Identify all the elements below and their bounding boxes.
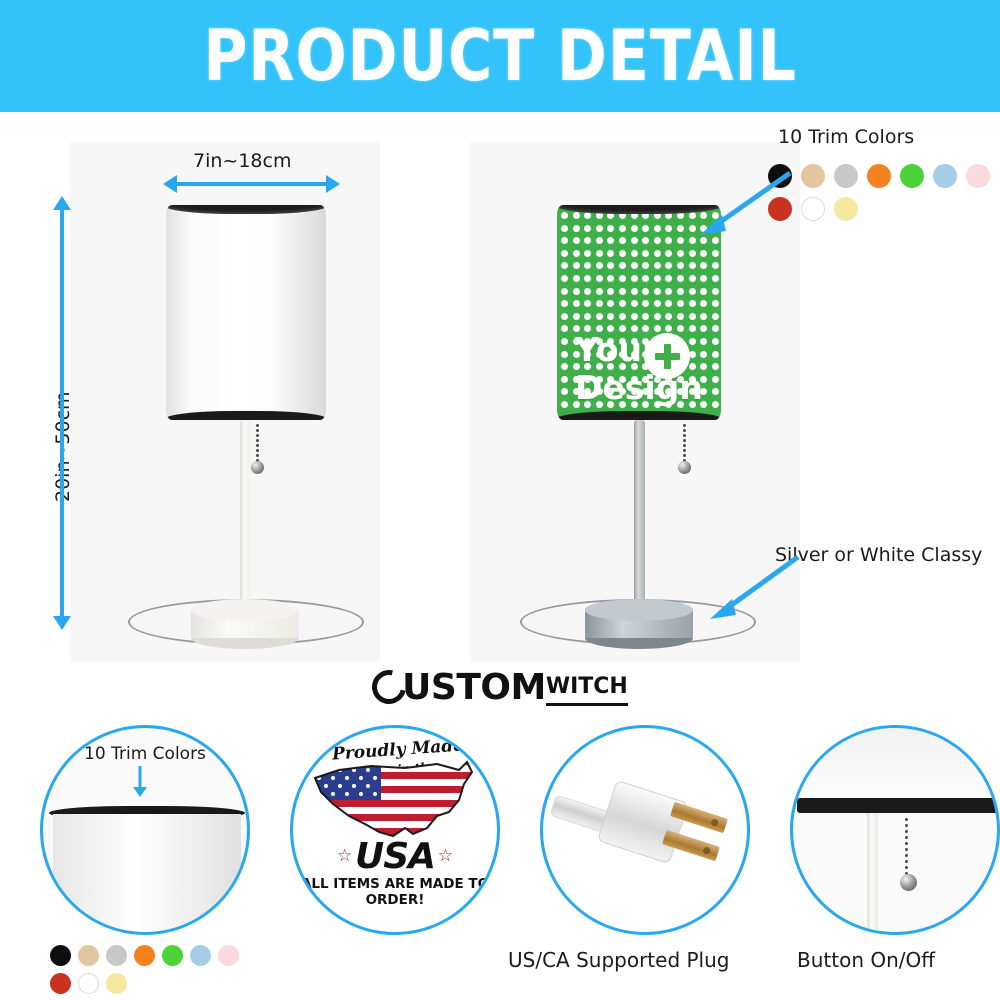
polka-dot: [677, 250, 684, 257]
star-right-icon: ☆: [438, 846, 453, 866]
trim-bottom-black: [166, 411, 326, 420]
polka-dot: [561, 288, 568, 295]
polka-dot: [584, 275, 591, 282]
trim-swatch-orange[interactable]: [867, 164, 891, 188]
polka-dot: [654, 313, 661, 320]
lampshade-surface: [166, 205, 326, 420]
panel-trim-colors: 10 Trim Colors: [40, 725, 250, 935]
polka-dot: [631, 288, 638, 295]
trim-swatch-gray[interactable]: [106, 945, 127, 966]
page-header-banner: PRODUCT DETAIL: [0, 0, 1000, 112]
usa-big-text: USA: [293, 836, 497, 877]
trim-swatch-tan[interactable]: [801, 164, 825, 188]
polka-dot: [712, 401, 719, 408]
polka-dot: [700, 313, 707, 320]
polka-dot: [607, 275, 614, 282]
polka-dot: [654, 275, 661, 282]
trim-swatch-orange[interactable]: [134, 945, 155, 966]
polka-dot: [700, 262, 707, 269]
polka-dot: [561, 275, 568, 282]
trim-swatch-pink[interactable]: [218, 945, 239, 966]
usa-small-text: ALL ITEMS ARE MADE TO ORDER!: [293, 876, 497, 908]
polka-dot: [607, 313, 614, 320]
polka-dot: [561, 351, 568, 358]
trim-swatch-yellow[interactable]: [834, 197, 858, 221]
polka-dot: [712, 300, 719, 307]
polka-dot: [584, 237, 591, 244]
polka-dot: [619, 225, 626, 232]
trim-swatch-gray[interactable]: [834, 164, 858, 188]
polka-dot: [561, 250, 568, 257]
trim-down-arrow: [129, 766, 151, 798]
switch-pull-ball[interactable]: [900, 874, 917, 891]
polka-dot: [712, 338, 719, 345]
polka-dot: [665, 288, 672, 295]
polka-dot: [712, 275, 719, 282]
polka-dot: [607, 288, 614, 295]
polka-dot: [619, 313, 626, 320]
polka-dot: [607, 250, 614, 257]
trim-swatch-black[interactable]: [50, 945, 71, 966]
lamp-base-white: [191, 599, 299, 649]
polka-dot: [584, 212, 591, 219]
panel-made-in-usa: Proudly Made in the: [290, 725, 500, 935]
polka-dot: [584, 288, 591, 295]
polka-dot: [677, 225, 684, 232]
polka-dot: [561, 401, 568, 408]
polka-dot: [561, 212, 568, 219]
main-stage: 7in~18cm 20in~50cm: [0, 112, 1000, 660]
polka-dot: [677, 288, 684, 295]
polka-dot: [573, 288, 580, 295]
polka-dot: [654, 288, 661, 295]
polka-dot: [700, 288, 707, 295]
polka-dot: [689, 275, 696, 282]
lamp-pole-white: [240, 420, 251, 616]
polka-dot: [607, 237, 614, 244]
polka-dot: [642, 237, 649, 244]
trim-callout-arrow: [690, 167, 800, 242]
polka-dot: [619, 288, 626, 295]
trim-swatch-red[interactable]: [50, 973, 71, 994]
polka-dot: [689, 250, 696, 257]
lamp-base-silver: [585, 599, 693, 649]
polka-dot: [619, 262, 626, 269]
polka-dot: [573, 225, 580, 232]
polka-dot: [631, 225, 638, 232]
panel-switch: [790, 725, 1000, 935]
polka-dot: [619, 300, 626, 307]
polka-dot: [573, 275, 580, 282]
plus-icon: [644, 333, 690, 379]
polka-dot: [631, 313, 638, 320]
polka-dot: [712, 388, 719, 395]
polka-dot: [642, 288, 649, 295]
polka-dot: [561, 313, 568, 320]
polka-dot: [561, 325, 568, 332]
switch-caption: Button On/Off: [797, 948, 935, 972]
polka-dot: [712, 313, 719, 320]
polka-dot: [561, 225, 568, 232]
lampshade-white: [166, 205, 326, 420]
polka-dot: [712, 288, 719, 295]
trim-swatch-light-blue[interactable]: [933, 164, 957, 188]
polka-dot: [596, 288, 603, 295]
polka-dot: [700, 300, 707, 307]
switch-pole: [867, 813, 878, 935]
trim-swatch-tan[interactable]: [78, 945, 99, 966]
logo-main-text: USTOM: [402, 670, 546, 706]
trim-swatch-green[interactable]: [900, 164, 924, 188]
polka-dot: [607, 300, 614, 307]
polka-dot: [712, 351, 719, 358]
polka-dot: [584, 225, 591, 232]
polka-dot: [712, 250, 719, 257]
polka-dot: [619, 237, 626, 244]
brand-logo: USTOM WITCH: [0, 660, 1000, 716]
pull-chain-ball[interactable]: [251, 461, 264, 474]
logo-sub-text: WITCH: [546, 672, 628, 706]
polka-dot: [619, 250, 626, 257]
polka-dot: [654, 225, 661, 232]
polka-dot: [573, 300, 580, 307]
polka-dot: [607, 225, 614, 232]
polka-dot: [677, 313, 684, 320]
polka-dot: [689, 300, 696, 307]
polka-dot: [665, 250, 672, 257]
polka-dot: [596, 250, 603, 257]
polka-dot: [642, 262, 649, 269]
polka-dot: [665, 313, 672, 320]
polka-dot: [712, 262, 719, 269]
polka-dot: [665, 262, 672, 269]
trim-color-swatches-top[interactable]: [768, 164, 1000, 221]
polka-dot: [700, 275, 707, 282]
panel-shade-surface: [53, 814, 241, 935]
polka-dot: [677, 275, 684, 282]
usa-map-icon: [309, 754, 487, 846]
polka-dot: [665, 225, 672, 232]
trim-swatch-green[interactable]: [162, 945, 183, 966]
trim-colors-label-top: 10 Trim Colors: [778, 126, 914, 148]
polka-dot: [631, 237, 638, 244]
polka-dot: [642, 313, 649, 320]
polka-dot: [677, 262, 684, 269]
polka-dot: [573, 237, 580, 244]
pull-chain-ball[interactable]: [678, 461, 691, 474]
polka-dot: [665, 237, 672, 244]
polka-dot: [712, 376, 719, 383]
polka-dot: [584, 300, 591, 307]
polka-dot: [654, 262, 661, 269]
polka-dot: [619, 275, 626, 282]
lamp-pole-silver: [634, 420, 645, 616]
polka-dot: [573, 262, 580, 269]
polka-dot: [561, 300, 568, 307]
polka-dot: [607, 262, 614, 269]
width-dimension-label: 7in~18cm: [193, 150, 291, 172]
trim-swatch-white[interactable]: [801, 197, 825, 221]
polka-dot: [631, 262, 638, 269]
switch-shade-surface: [793, 728, 997, 802]
polka-dot: [631, 300, 638, 307]
pull-chain[interactable]: [256, 424, 259, 464]
polka-dot: [596, 237, 603, 244]
polka-dot: [677, 237, 684, 244]
pull-chain[interactable]: [683, 424, 686, 464]
polka-dot: [561, 237, 568, 244]
polka-dot: [631, 250, 638, 257]
panel-plug: [540, 725, 750, 935]
polka-dot: [561, 363, 568, 370]
base-finish-arrow: [700, 547, 810, 627]
polka-dot: [596, 275, 603, 282]
polka-dot: [584, 262, 591, 269]
polka-dot: [642, 275, 649, 282]
polka-dot: [596, 262, 603, 269]
trim-swatch-yellow[interactable]: [106, 973, 127, 994]
polka-dot: [573, 212, 580, 219]
polka-dot: [654, 250, 661, 257]
polka-dot: [689, 262, 696, 269]
polka-dot: [712, 325, 719, 332]
polka-dot: [665, 300, 672, 307]
trim-colors-label-panel: 10 Trim Colors: [43, 744, 247, 764]
polka-dot: [642, 225, 649, 232]
trim-swatch-white[interactable]: [78, 973, 99, 994]
polka-dot: [642, 250, 649, 257]
switch-trim-band: [797, 798, 999, 813]
polka-dot: [677, 300, 684, 307]
plug-caption: US/CA Supported Plug: [508, 948, 729, 972]
polka-dot: [700, 250, 707, 257]
polka-dot: [596, 225, 603, 232]
polka-dot: [596, 313, 603, 320]
trim-bottom-black: [557, 411, 721, 420]
polka-dot: [584, 250, 591, 257]
polka-dot: [631, 275, 638, 282]
product-detail-infographic: PRODUCT DETAIL 7in~18cm 20in~50cm: [0, 0, 1000, 1000]
polka-dot: [596, 300, 603, 307]
plug-body: [597, 780, 689, 864]
switch-pull-chain[interactable]: [905, 818, 908, 876]
polka-dot: [712, 363, 719, 370]
trim-color-swatches-bottom[interactable]: [50, 945, 260, 994]
polka-dot: [561, 376, 568, 383]
polka-dot: [584, 313, 591, 320]
polka-dot: [573, 250, 580, 257]
polka-dot: [654, 300, 661, 307]
polka-dot: [654, 237, 661, 244]
polka-dot: [642, 300, 649, 307]
polka-dot: [689, 313, 696, 320]
page-title: PRODUCT DETAIL: [203, 15, 797, 97]
polka-dot: [573, 313, 580, 320]
polka-dot: [561, 262, 568, 269]
polka-dot: [561, 388, 568, 395]
trim-swatch-light-blue[interactable]: [190, 945, 211, 966]
polka-dot: [665, 275, 672, 282]
polka-dot: [561, 338, 568, 345]
polka-dot: [689, 288, 696, 295]
trim-swatch-pink[interactable]: [966, 164, 990, 188]
